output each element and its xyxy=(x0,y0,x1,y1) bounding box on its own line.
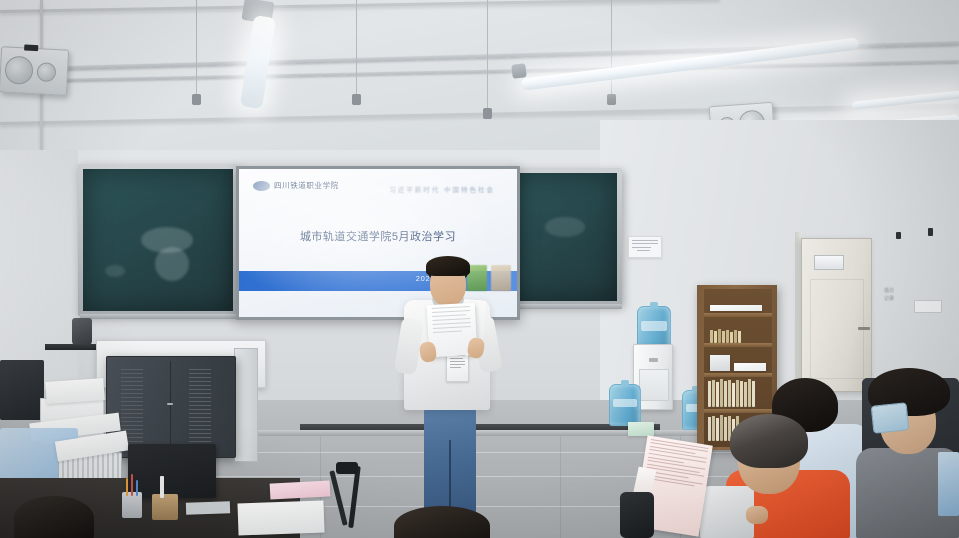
poster-line xyxy=(632,243,658,244)
classroom-photo: 四川铁道职业学院 习近平新时代 中国特色社会 城市轨道交通学院5月政治学习 20… xyxy=(0,0,959,538)
badge-line xyxy=(450,367,461,368)
poster-line xyxy=(637,250,650,251)
light-fixture-cap-2 xyxy=(511,63,527,79)
bookshelf-board-3 xyxy=(704,373,772,377)
staff-id-badge xyxy=(446,352,469,382)
marker-white xyxy=(160,476,164,498)
paper-line xyxy=(432,318,470,321)
pen-blue xyxy=(136,480,138,496)
blackboard-left-surface xyxy=(83,169,233,311)
paper-line xyxy=(432,314,466,317)
bottle-neck xyxy=(621,380,629,386)
bookshelf-board-2 xyxy=(704,343,772,347)
wall-notice-poster xyxy=(628,236,662,258)
presenter-hairline xyxy=(426,256,470,276)
badge-line xyxy=(450,361,465,362)
presentation-slide: 四川铁道职业学院 习近平新时代 中国特色社会 城市轨道交通学院5月政治学习 20… xyxy=(239,169,517,317)
dispenser-cabinet-door[interactable] xyxy=(639,369,669,401)
classroom-door[interactable] xyxy=(801,238,872,392)
bookshelf-board-4 xyxy=(704,409,772,413)
speaker-cone-left-large xyxy=(4,56,33,85)
shelf-item-folder xyxy=(710,305,762,311)
light-hanger-box-3 xyxy=(483,108,492,119)
shelf-item-papers xyxy=(734,363,766,371)
speaker-bracket-left xyxy=(24,44,38,51)
school-emblem-icon xyxy=(253,181,270,191)
cabinet-handle[interactable] xyxy=(167,403,173,405)
spare-water-bottle-1 xyxy=(609,384,641,426)
blackboard-right-surface xyxy=(511,173,617,301)
face-mask xyxy=(871,402,910,434)
raised-platform-edge xyxy=(210,430,770,436)
paper-line xyxy=(432,310,470,313)
door-panel xyxy=(810,279,864,379)
door-handle[interactable] xyxy=(858,327,870,330)
light-hanger-box-1 xyxy=(192,94,201,105)
slide-thumbnail-2 xyxy=(491,265,511,291)
slide-header-right-text: 习近平新时代 中国特色社会 xyxy=(389,184,495,194)
projection-screen: 四川铁道职业学院 习近平新时代 中国特色社会 城市轨道交通学院5月政治学习 20… xyxy=(236,166,520,320)
pen-red xyxy=(131,474,133,496)
desktop-monitor[interactable] xyxy=(128,444,216,498)
light-hanger-wire-4 xyxy=(611,0,612,96)
wall-speaker-left xyxy=(0,46,69,95)
poster-line xyxy=(632,240,658,241)
pink-paper xyxy=(270,480,331,499)
bookshelf-board-1 xyxy=(704,313,772,317)
slide-logo: 四川铁道职业学院 xyxy=(253,180,339,191)
speaker-cone-left-small xyxy=(36,62,56,82)
stack-of-papers-top xyxy=(45,378,104,404)
audience-orange-hand xyxy=(746,506,768,524)
bottle-label xyxy=(613,399,637,408)
office-printer xyxy=(0,360,44,420)
chalk-mark-3 xyxy=(105,265,125,277)
foreground-blue-folder xyxy=(938,452,959,516)
light-hanger-box-4 xyxy=(607,94,616,105)
cabinet-vent-right xyxy=(189,369,211,443)
light-hanger-box-2 xyxy=(352,94,361,105)
floor-tile-vline-2 xyxy=(560,436,561,538)
wall-handwriting: 值日 记录 xyxy=(884,288,894,303)
paper-line xyxy=(433,322,471,325)
chalk-mark-2 xyxy=(155,247,189,281)
pen-holder-wood xyxy=(152,494,178,520)
blackboard-left-chalk-tray xyxy=(80,314,238,319)
wall-switch-plate xyxy=(914,300,942,313)
paper-line xyxy=(433,330,462,333)
blackboard-left xyxy=(78,164,238,316)
foreground-head-hair xyxy=(394,506,490,538)
paper-line xyxy=(432,306,470,309)
tripod-head xyxy=(336,462,358,474)
electric-kettle xyxy=(72,318,92,346)
shelf-books-row-2 xyxy=(708,379,768,407)
cabinet-door-seam xyxy=(170,361,171,453)
wall-screw-2 xyxy=(928,228,933,236)
wall-screw-1 xyxy=(896,232,901,239)
floor-box-green xyxy=(628,422,654,436)
cabinet-side-panel xyxy=(234,348,258,462)
chalk-mark-4 xyxy=(545,217,585,237)
audience-orange-hair-graying xyxy=(730,414,808,468)
bottle-label xyxy=(641,321,667,330)
paper-on-desk-right xyxy=(237,501,324,536)
cable-tray-item xyxy=(186,501,230,515)
slide-thumbnail-1 xyxy=(467,265,487,291)
badge-line xyxy=(450,364,465,365)
light-hanger-wire-3 xyxy=(487,0,488,110)
blackboard-right-chalk-tray xyxy=(508,304,622,309)
dispenser-tap[interactable] xyxy=(649,358,658,362)
light-hanger-wire-1 xyxy=(196,0,197,96)
slide-logo-text: 四川铁道职业学院 xyxy=(274,180,339,191)
door-window xyxy=(814,255,844,270)
slide-title: 城市轨道交通学院5月政治学习 xyxy=(239,228,517,244)
bottle-neck xyxy=(650,302,658,308)
shelf-books-row-1 xyxy=(710,329,766,343)
shelf-item-box xyxy=(710,355,730,371)
paper-line xyxy=(433,326,471,329)
light-hanger-wire-2 xyxy=(356,0,357,96)
audience-orange-arm-dark xyxy=(620,492,654,538)
blackboard-right xyxy=(506,168,622,306)
foreground-left-hair xyxy=(14,496,94,538)
pen-orange xyxy=(126,478,128,496)
left-wall-column xyxy=(0,150,78,390)
badge-line xyxy=(450,358,463,359)
poster-line xyxy=(632,247,651,248)
